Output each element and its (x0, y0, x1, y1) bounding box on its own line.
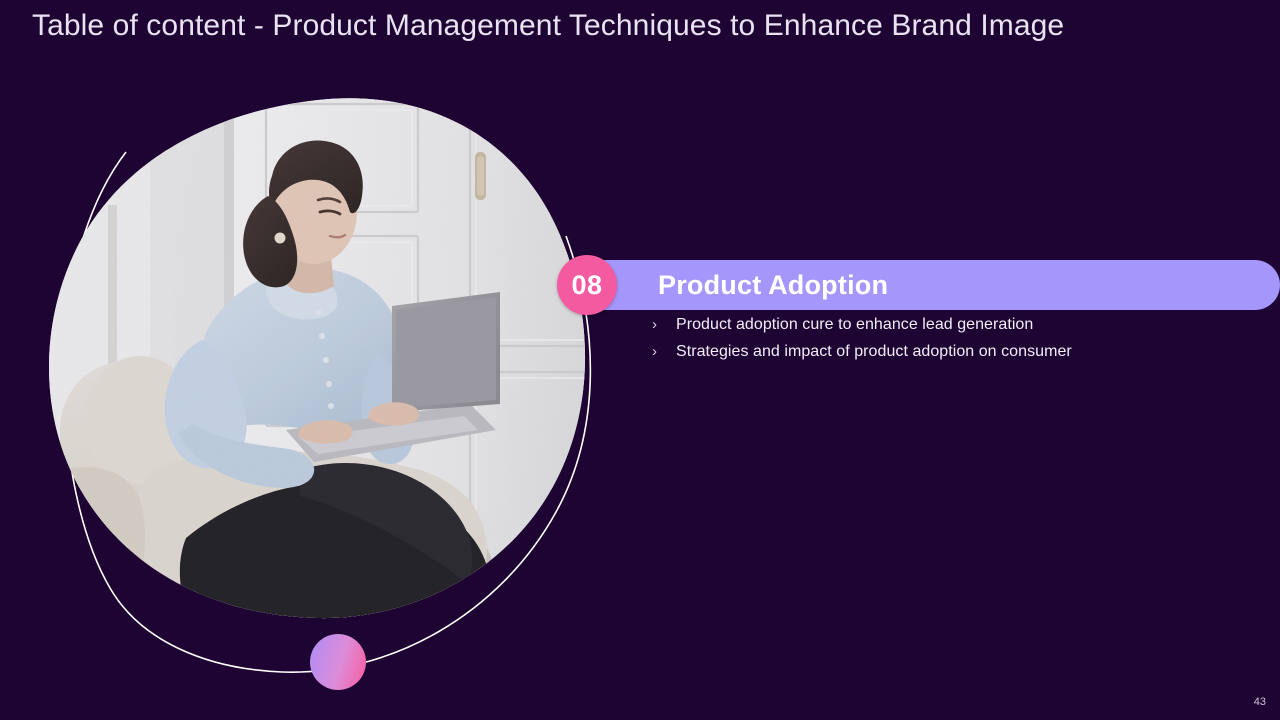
list-item: › Product adoption cure to enhance lead … (652, 316, 1252, 334)
photo-blob (40, 80, 628, 650)
page-number: 43 (1254, 696, 1266, 708)
section-number: 08 (571, 272, 602, 299)
gradient-dot (310, 634, 366, 690)
list-item-label: Strategies and impact of product adoptio… (676, 343, 1072, 361)
slide-canvas: Table of content - Product Management Te… (0, 0, 1280, 720)
chevron-right-icon: › (652, 317, 676, 332)
chevron-right-icon: › (652, 344, 676, 359)
list-item-label: Product adoption cure to enhance lead ge… (676, 316, 1033, 334)
section-heading-bar[interactable]: Product Adoption (600, 260, 1280, 310)
section-number-badge: 08 (557, 255, 617, 315)
list-item: › Strategies and impact of product adopt… (652, 343, 1252, 361)
section-bullet-list: › Product adoption cure to enhance lead … (652, 316, 1252, 371)
section-heading: Product Adoption (658, 272, 888, 299)
